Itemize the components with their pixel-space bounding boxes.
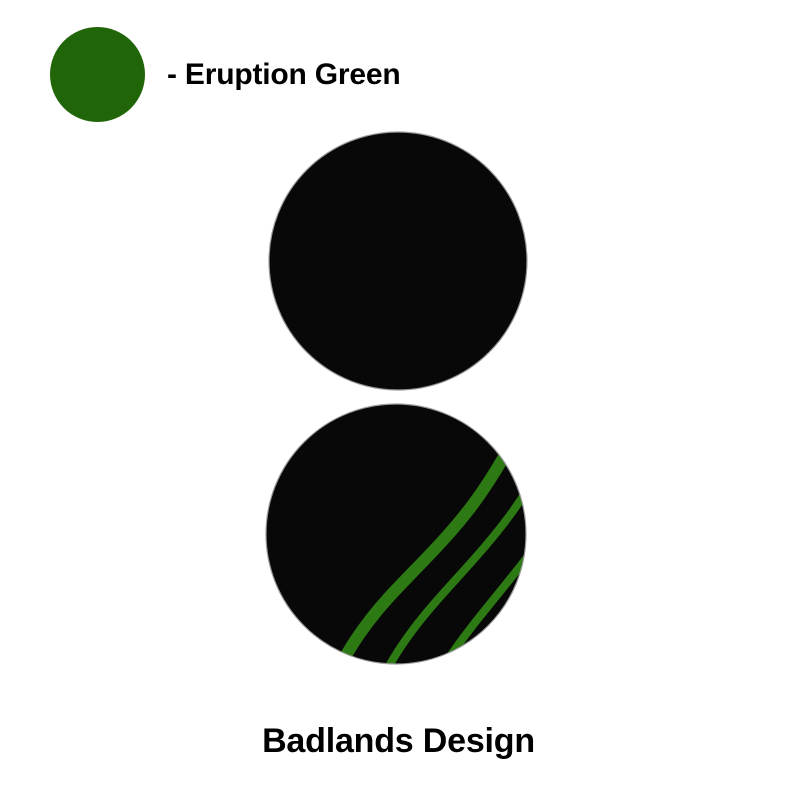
disc-base-fill	[266, 404, 526, 664]
color-legend: - Eruption Green	[50, 27, 400, 122]
color-swatch-circle	[50, 27, 145, 122]
pattern-disc-top	[268, 131, 528, 391]
pattern-disc-bottom-graphic	[265, 403, 527, 665]
color-name-label: - Eruption Green	[167, 60, 400, 90]
pattern-disc-top-graphic	[268, 131, 528, 391]
brand-title: Badlands Design	[0, 724, 797, 758]
disc-base-fill	[269, 132, 527, 390]
pattern-disc-bottom	[265, 403, 527, 665]
design-canvas: - Eruption Green Badlands Design	[0, 0, 797, 797]
